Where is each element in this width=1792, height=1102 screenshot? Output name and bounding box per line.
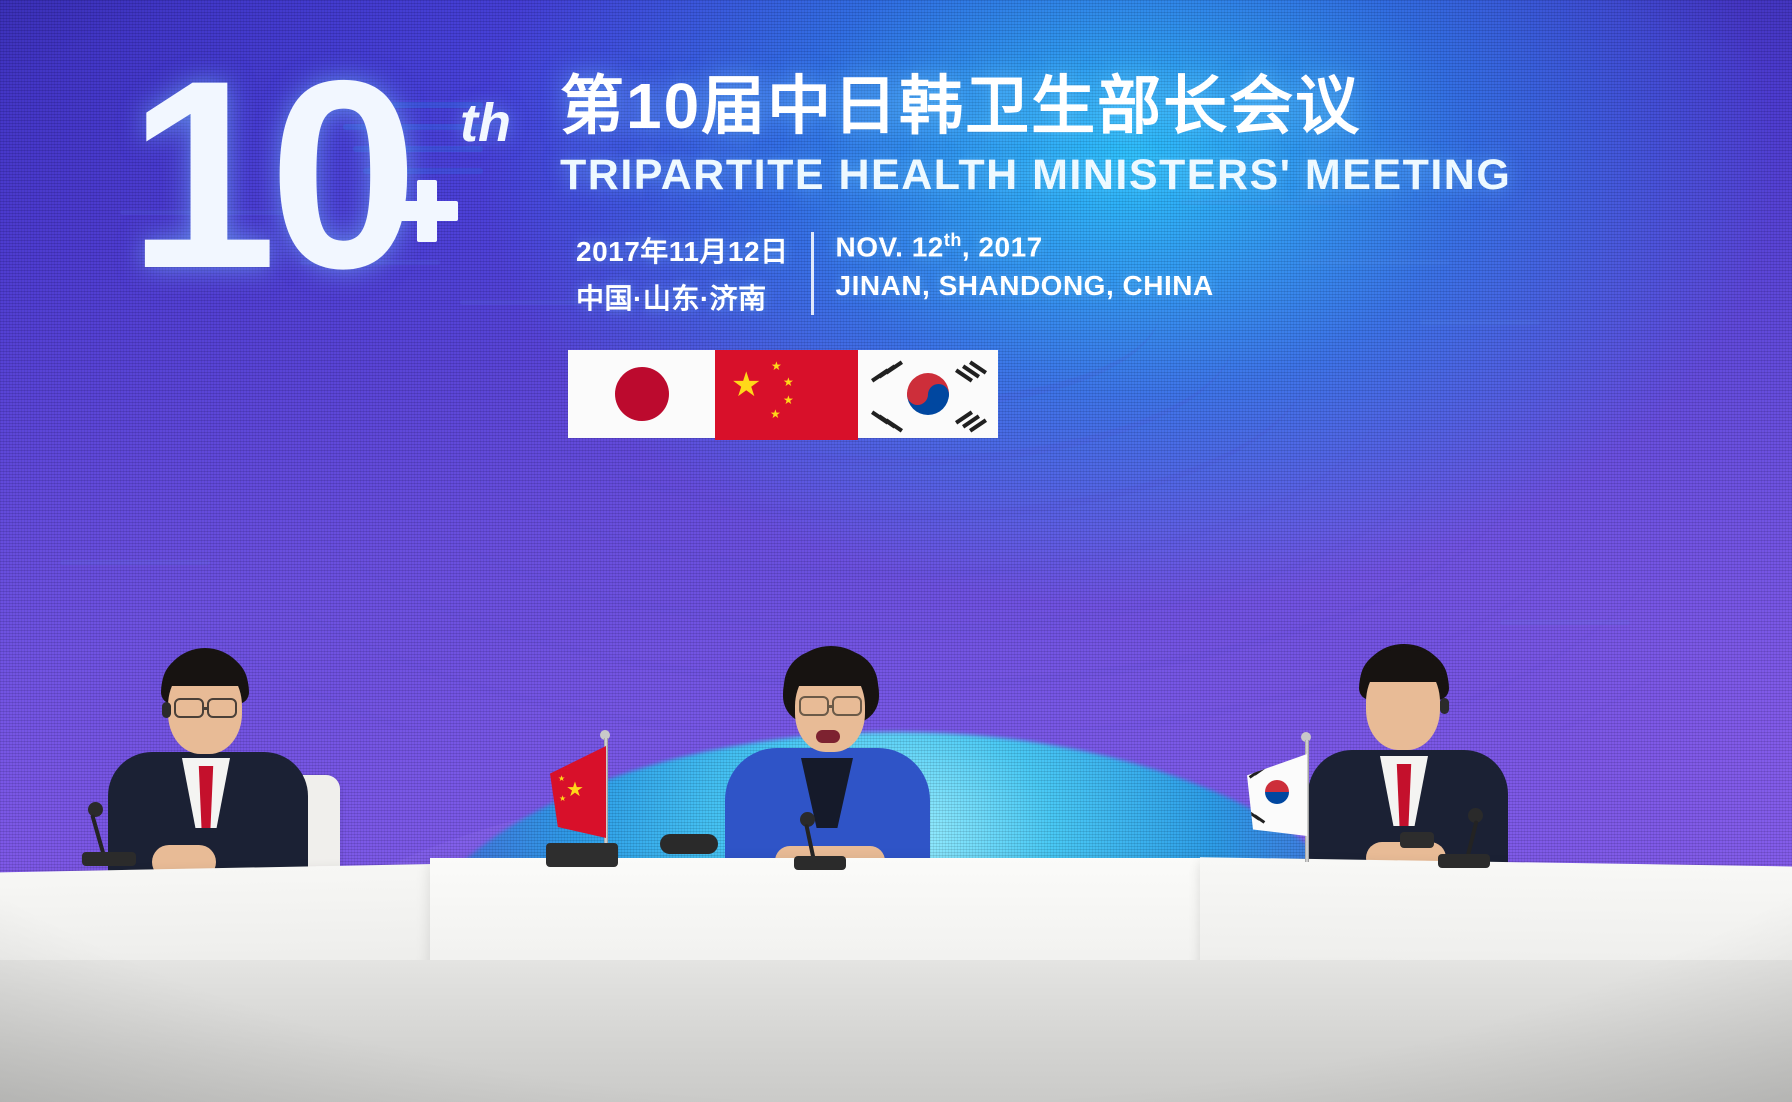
desk-device	[546, 843, 618, 867]
medical-cross-icon	[396, 180, 458, 242]
ordinal-number: 10	[128, 40, 410, 308]
backdrop-flag-panel: Japan ★ ★ ★ ★ ★ China South Korea	[568, 350, 998, 440]
title-chinese: 第10届中日韩卫生部长会议	[560, 72, 1540, 141]
date-chinese: 2017年11月12日	[576, 230, 789, 270]
meta-divider	[811, 232, 814, 315]
taeguk-symbol	[907, 373, 949, 415]
table-microphone[interactable]	[790, 810, 860, 872]
desk-device	[660, 834, 718, 854]
date-english: NOV. 12th, 2017	[836, 230, 1214, 263]
desk-front-panel	[0, 960, 1792, 1102]
earpiece-icon	[162, 702, 171, 718]
photo-scene: 10 th 第10届中日韩卫生部长会议 TRIPARTITE HEALTH MI…	[0, 0, 1792, 1102]
china-desk-flag: ★ ★ ★	[560, 730, 630, 860]
table-microphone[interactable]	[80, 800, 150, 870]
glasses-icon	[799, 696, 863, 718]
earpiece-icon	[1440, 698, 1449, 714]
event-ordinal-logo: 10 th	[128, 40, 558, 310]
title-english: TRIPARTITE HEALTH MINISTERS' MEETING	[560, 151, 1540, 200]
event-title-block: 第10届中日韩卫生部长会议 TRIPARTITE HEALTH MINISTER…	[560, 72, 1540, 317]
japan-flag-disc	[615, 367, 669, 421]
table-microphone[interactable]	[1424, 806, 1494, 870]
glasses-icon	[174, 698, 238, 720]
meta-chinese-column: 2017年11月12日 中国·山东·济南	[576, 230, 789, 317]
location-chinese: 中国·山东·济南	[576, 277, 789, 317]
meta-english-column: NOV. 12th, 2017 JINAN, SHANDONG, CHINA	[836, 230, 1214, 302]
desk-device	[1400, 832, 1434, 848]
south-korea-desk-flag-cloth	[1247, 754, 1307, 836]
event-meta: 2017年11月12日 中国·山东·济南 NOV. 12th, 2017 JIN…	[576, 230, 1540, 317]
delegate-center-mouth	[816, 730, 840, 743]
south-korea-flag: South Korea	[858, 350, 998, 438]
location-english: JINAN, SHANDONG, CHINA	[836, 270, 1214, 302]
ordinal-suffix: th	[460, 92, 511, 154]
china-flag: ★ ★ ★ ★ ★ China	[715, 350, 858, 440]
japan-flag: Japan	[568, 350, 715, 438]
south-korea-desk-flag	[1255, 732, 1325, 862]
